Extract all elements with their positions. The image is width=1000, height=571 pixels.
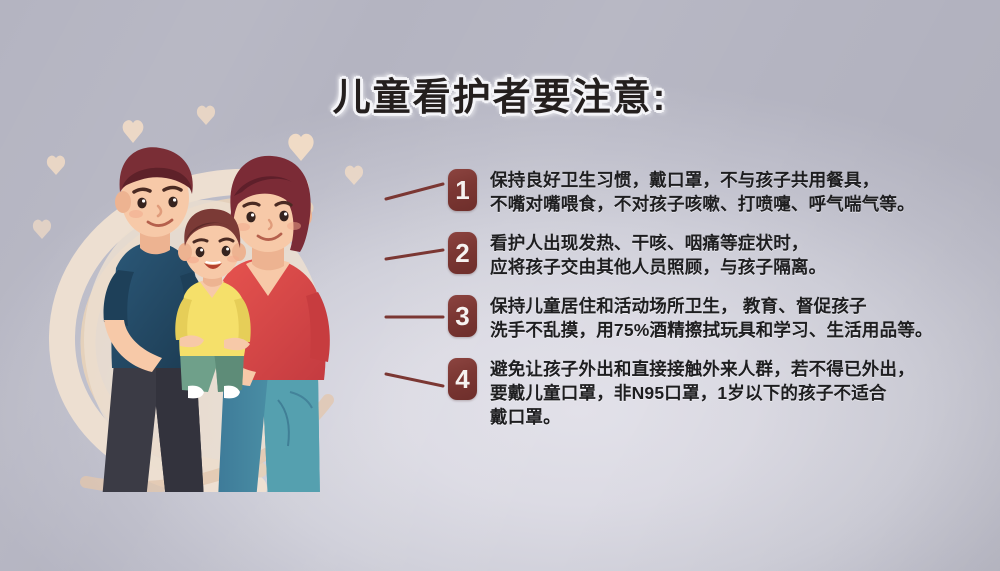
item-text: 保持良好卫生习惯，戴口罩，不与孩子共用餐具， 不嘴对嘴喂食，不对孩子咳嗽、打喷嚏…: [490, 168, 915, 216]
item-text-line: 保持良好卫生习惯，戴口罩，不与孩子共用餐具，: [490, 168, 915, 192]
item-number-badge: 3: [448, 295, 477, 337]
item-text-line: 戴口罩。: [490, 405, 915, 429]
item-text-line: 不嘴对嘴喂食，不对孩子咳嗽、打喷嚏、呼气喘气等。: [490, 192, 915, 216]
item-number-badge: 1: [448, 169, 477, 211]
item-text-line: 洗手不乱摸，用75%酒精擦拭玩具和学习、生活用品等。: [490, 318, 933, 342]
tips-list: 1 保持良好卫生习惯，戴口罩，不与孩子共用餐具， 不嘴对嘴喂食，不对孩子咳嗽、打…: [386, 168, 986, 444]
list-item: 1 保持良好卫生习惯，戴口罩，不与孩子共用餐具， 不嘴对嘴喂食，不对孩子咳嗽、打…: [386, 168, 986, 216]
list-item: 3 保持儿童居住和活动场所卫生， 教育、督促孩子 洗手不乱摸，用75%酒精擦拭玩…: [386, 294, 986, 342]
item-text: 避免让孩子外出和直接接触外来人群，若不得已外出， 要戴儿童口罩，非N95口罩，1…: [490, 357, 915, 429]
item-text-line: 看护人出现发热、干咳、咽痛等症状时，: [490, 231, 826, 255]
item-number-badge: 2: [448, 232, 477, 274]
item-text: 保持儿童居住和活动场所卫生， 教育、督促孩子 洗手不乱摸，用75%酒精擦拭玩具和…: [490, 294, 933, 342]
child-figure: [175, 209, 250, 398]
family-illustration: [28, 100, 388, 500]
list-item: 2 看护人出现发热、干咳、咽痛等症状时， 应将孩子交由其他人员照顾，与孩子隔离。: [386, 231, 986, 279]
item-text-line: 避免让孩子外出和直接接触外来人群，若不得已外出，: [490, 357, 915, 381]
item-number-badge: 4: [448, 358, 477, 400]
list-item: 4 避免让孩子外出和直接接触外来人群，若不得已外出， 要戴儿童口罩，非N95口罩…: [386, 357, 986, 429]
connector-line-icon: [385, 245, 445, 263]
item-text-line: 要戴儿童口罩，非N95口罩，1岁以下的孩子不适合: [490, 381, 915, 405]
connector-line-icon: [385, 308, 445, 326]
item-text-line: 应将孩子交由其他人员照顾，与孩子隔离。: [490, 255, 826, 279]
connector-line-icon: [385, 371, 445, 389]
connector-line-icon: [385, 182, 445, 200]
item-text-line: 保持儿童居住和活动场所卫生， 教育、督促孩子: [490, 294, 933, 318]
infographic-poster: 儿童看护者要注意:: [0, 0, 1000, 571]
item-text: 看护人出现发热、干咳、咽痛等症状时， 应将孩子交由其他人员照顾，与孩子隔离。: [490, 231, 826, 279]
illustration-canvas: [33, 106, 363, 500]
